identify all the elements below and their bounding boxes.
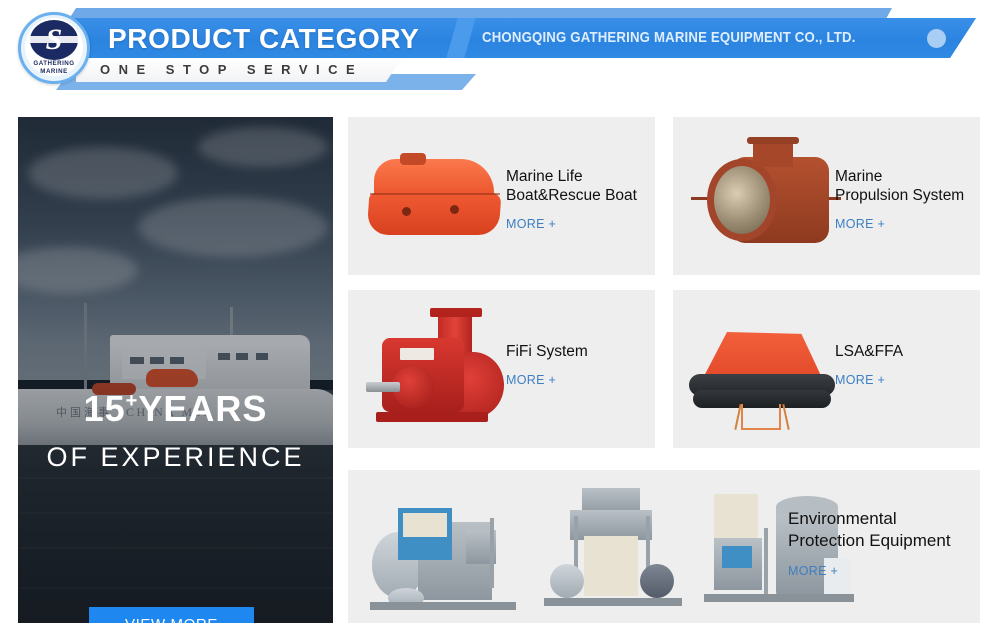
product-card-text: Marine Propulsion System MORE +: [835, 167, 964, 231]
view-more-button[interactable]: VIEW MORE: [89, 607, 254, 623]
banner-headline-word: YEARS: [138, 388, 267, 429]
product-title: Environmental Protection Equipment: [788, 508, 951, 552]
fire-fighting-pump-icon: [358, 300, 518, 438]
experience-banner[interactable]: 中国海事 CHINA MSA 15+YEARS OF EXPERIENCE VI…: [18, 117, 333, 623]
more-link[interactable]: MORE +: [835, 373, 903, 387]
more-link[interactable]: MORE +: [506, 217, 637, 231]
gathering-marine-logo-icon[interactable]: S GATHERING MARINE: [18, 12, 90, 84]
product-title: LSA&FFA: [835, 342, 903, 361]
product-category-page: PRODUCT CATEGORY CHONGQING GATHERING MAR…: [0, 0, 1002, 639]
product-title: Marine Propulsion System: [835, 167, 964, 205]
page-header: PRODUCT CATEGORY CHONGQING GATHERING MAR…: [0, 0, 1002, 104]
product-card-text: Marine Life Boat&Rescue Boat MORE +: [506, 167, 637, 231]
page-subtitle: ONE STOP SERVICE: [100, 60, 363, 80]
product-card-marine-life-boat[interactable]: Marine Life Boat&Rescue Boat MORE +: [348, 117, 655, 275]
banner-subheadline: OF EXPERIENCE: [18, 442, 333, 473]
more-link[interactable]: MORE +: [506, 373, 588, 387]
inflatable-liferaft-icon: [681, 304, 845, 436]
tunnel-thruster-icon: [687, 129, 847, 263]
oily-water-separator-unit-icon: [544, 480, 684, 616]
product-title: Marine Life Boat&Rescue Boat: [506, 167, 637, 205]
company-name: CHONGQING GATHERING MARINE EQUIPMENT CO.…: [482, 24, 856, 52]
more-link[interactable]: MORE +: [835, 217, 964, 231]
logo-text-line1: GATHERING: [21, 60, 87, 67]
header-dot-icon: [927, 29, 946, 48]
page-title: PRODUCT CATEGORY: [108, 20, 419, 58]
sewage-treatment-unit-icon: [370, 488, 520, 616]
product-card-lsa-ffa[interactable]: LSA&FFA MORE +: [673, 290, 980, 448]
product-card-environmental-protection-equipment[interactable]: Environmental Protection Equipment MORE …: [348, 470, 980, 623]
product-title: FiFi System: [506, 342, 588, 361]
lifeboat-icon: [354, 133, 504, 259]
product-card-text: LSA&FFA MORE +: [835, 342, 903, 387]
banner-headline-number: 15: [84, 388, 126, 429]
product-card-text: Environmental Protection Equipment MORE …: [788, 508, 951, 578]
more-link[interactable]: MORE +: [788, 564, 951, 578]
banner-overlay: [18, 117, 333, 623]
product-card-marine-propulsion-system[interactable]: Marine Propulsion System MORE +: [673, 117, 980, 275]
logo-monogram: S: [30, 19, 78, 61]
product-card-fifi-system[interactable]: FiFi System MORE +: [348, 290, 655, 448]
logo-text-line2: MARINE: [21, 68, 87, 75]
banner-headline-plus: +: [126, 390, 139, 412]
product-card-text: FiFi System MORE +: [506, 342, 588, 387]
banner-headline: 15+YEARS: [18, 388, 333, 430]
